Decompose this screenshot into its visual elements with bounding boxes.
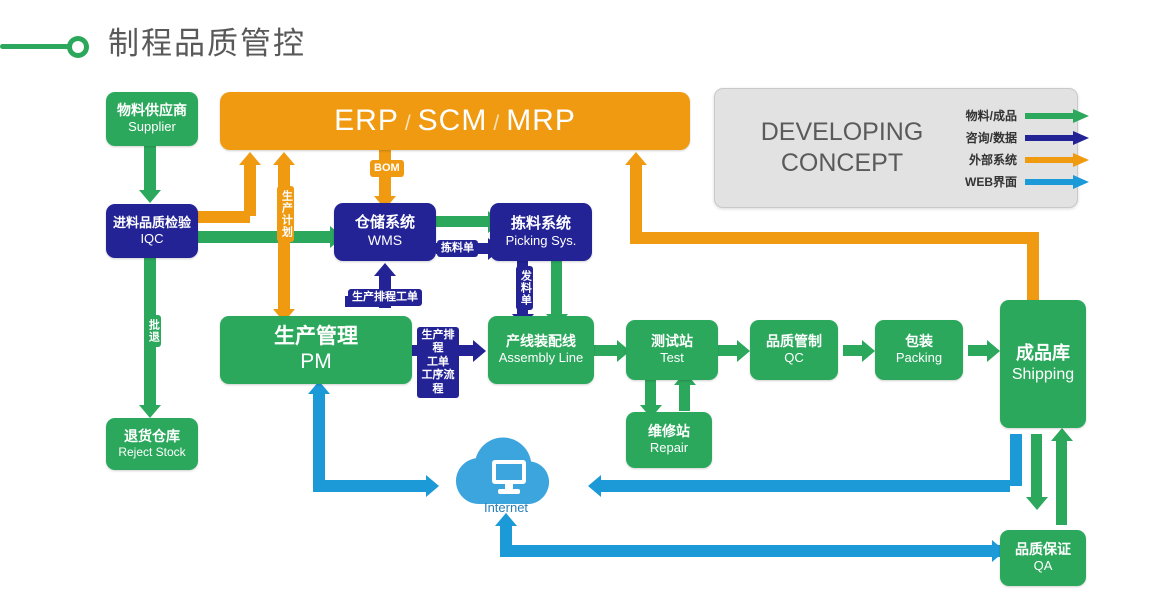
edge-label-issue-list: 发料单 [516,266,533,310]
erp-sep-2: / [487,112,506,135]
node-pm-en: PM [300,349,332,375]
node-shipping-en: Shipping [1012,365,1074,385]
diagram-canvas: 制程品质管控 ERP/SCM/MRP DEVELOPING CONCEPT 物料… [0,0,1150,595]
node-qa[interactable]: 品质保证 QA [1000,530,1086,586]
node-qc[interactable]: 品质管制 QC [750,320,838,380]
legend-rows: 物料/成品 咨询/数据 外部系统 WEB界面 [951,104,1103,192]
legend-heading-line2: CONCEPT [733,148,951,179]
edge-label-sched-work-order: 生产排程工单 [348,289,422,306]
node-qc-cn: 品质管制 [766,333,822,350]
title-dot-icon [67,36,89,58]
node-picking-en: Picking Sys. [506,233,577,249]
edge-label-pick-list: 拣料单 [437,240,478,257]
erp-label: ERP [334,104,399,137]
arrow-right-icon [1025,155,1095,164]
legend-item-external: 外部系统 [951,148,1095,170]
node-supplier-cn: 物料供应商 [117,102,187,119]
node-test-en: Test [660,350,684,366]
node-iqc[interactable]: 进料品质检验 IQC [106,204,198,258]
node-wms[interactable]: 仓储系统 WMS [334,203,436,261]
erp-banner-text: ERP/SCM/MRP [334,104,576,138]
node-pm[interactable]: 生产管理 PM [220,316,412,384]
edge-label-reject-lot: 批退 [144,315,161,347]
scm-label: SCM [418,104,488,137]
edge-label-production-plan: 生产计划 [277,186,294,242]
node-wms-cn: 仓储系统 [355,214,415,232]
node-reject-stock[interactable]: 退货仓库 Reject Stock [106,418,198,470]
node-shipping[interactable]: 成品库 Shipping [1000,300,1086,428]
edge-label-bom: BOM [370,160,404,177]
erp-sep-1: / [399,112,418,135]
node-repair-en: Repair [650,440,688,456]
node-assembly-en: Assembly Line [499,350,584,366]
page-title: 制程品质管控 [108,22,306,66]
mrp-label: MRP [506,104,576,137]
node-qc-en: QC [784,350,804,366]
legend-item-data: 咨询/数据 [951,126,1095,148]
node-packing-cn: 包装 [905,333,933,350]
cloud-icon[interactable] [448,432,564,510]
node-reject-cn: 退货仓库 [124,428,180,445]
node-assembly-cn: 产线装配线 [506,333,576,350]
cloud-label: Internet [448,500,564,515]
node-test[interactable]: 测试站 Test [626,320,718,380]
node-supplier-en: Supplier [128,119,176,135]
node-qa-en: QA [1034,558,1053,574]
node-wms-en: WMS [368,232,402,250]
legend-label-data: 咨询/数据 [951,129,1025,146]
legend-label-material: 物料/成品 [951,107,1025,124]
legend-heading: DEVELOPING CONCEPT [715,117,951,179]
node-packing-en: Packing [896,350,942,366]
arrow-right-icon [1025,111,1095,120]
node-iqc-cn: 进料品质检验 [113,215,191,231]
node-assembly-line[interactable]: 产线装配线 Assembly Line [488,316,594,384]
arrow-right-icon [1025,133,1095,142]
legend-item-material: 物料/成品 [951,104,1095,126]
node-supplier[interactable]: 物料供应商 Supplier [106,92,198,146]
arrow-right-icon [1025,177,1095,186]
node-qa-cn: 品质保证 [1015,541,1071,558]
legend-label-web: WEB界面 [951,173,1025,190]
legend-label-external: 外部系统 [951,151,1025,168]
node-repair-cn: 维修站 [648,423,690,440]
node-picking-cn: 拣料系统 [511,215,571,233]
legend-panel: DEVELOPING CONCEPT 物料/成品 咨询/数据 外部系统 [714,88,1078,208]
legend-heading-line1: DEVELOPING [733,117,951,148]
node-picking-sys[interactable]: 拣料系统 Picking Sys. [490,203,592,261]
node-packing[interactable]: 包装 Packing [875,320,963,380]
legend-item-web: WEB界面 [951,170,1095,192]
node-iqc-en: IQC [140,231,163,247]
node-shipping-cn: 成品库 [1016,343,1070,365]
node-reject-en: Reject Stock [118,445,185,460]
node-erp-scm-mrp[interactable]: ERP/SCM/MRP [220,92,690,150]
node-pm-cn: 生产管理 [274,324,358,349]
node-test-cn: 测试站 [651,333,693,350]
node-repair[interactable]: 维修站 Repair [626,412,712,468]
edge-label-work-order-flow: 生产排程 工单 工序流程 [417,327,459,398]
